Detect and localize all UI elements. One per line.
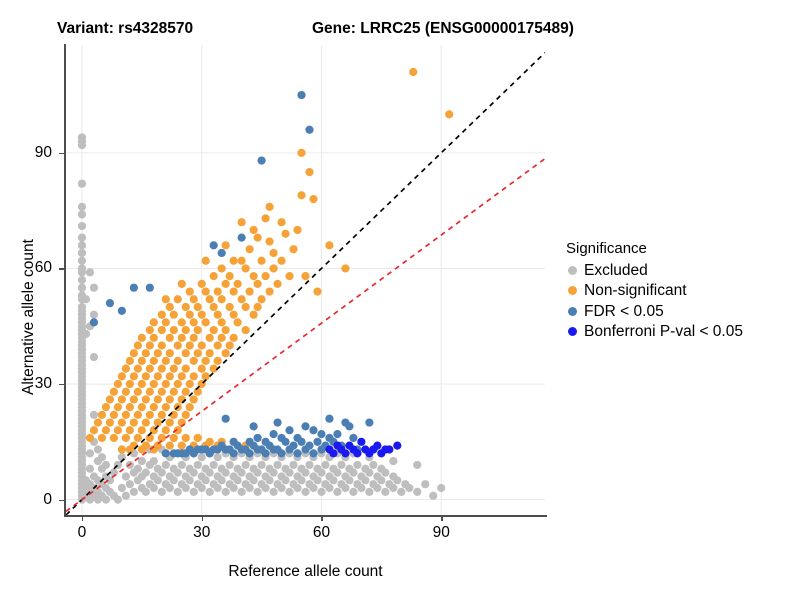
chart-root: Variant: rs4328570 Gene: LRRC25 (ENSG000… [0,0,800,600]
y-tick-label: 0 [12,491,52,509]
ratio-line [66,159,545,512]
plot-panel [66,45,545,515]
legend-item-non-significant[interactable]: Non-significant [565,281,797,302]
legend-item-label: Non-significant [584,283,687,299]
gene-title: Gene: LRRC25 (ENSG00000175489) [312,20,574,38]
y-tick-label: 90 [12,144,52,162]
legend-swatch-icon [568,327,577,336]
legend-title: Significance [566,240,797,257]
x-tick-label: 90 [411,524,471,542]
legend-item-label: Bonferroni P-val < 0.05 [584,324,743,340]
x-axis-label: Reference allele count [0,563,611,581]
y-tick-mark [59,268,64,269]
x-tick-label: 0 [52,524,112,542]
x-tick-mark [202,516,203,521]
x-axis-line [64,515,547,517]
legend-items: ExcludedNon-significantFDR < 0.05Bonferr… [565,260,797,342]
x-tick-label: 30 [172,524,232,542]
legend-item-label: FDR < 0.05 [584,304,664,320]
legend-item-excluded[interactable]: Excluded [565,260,797,281]
x-tick-mark [82,516,83,521]
y-tick-mark [59,153,64,154]
variant-title: Variant: rs4328570 [57,20,193,38]
scatter-plot-svg [66,45,545,515]
legend-item-bonferroni-p-val-0-05[interactable]: Bonferroni P-val < 0.05 [565,322,797,343]
legend-swatch-icon [568,307,577,316]
x-tick-mark [441,516,442,521]
x-tick-label: 60 [291,524,351,542]
y-tick-mark [59,384,64,385]
y-axis-label: Alternative allele count [20,239,38,395]
legend: Significance ExcludedNon-significantFDR … [565,240,797,342]
legend-swatch-icon [568,286,577,295]
series-non-significant [86,68,453,454]
legend-item-fdr-0-05[interactable]: FDR < 0.05 [565,301,797,322]
legend-swatch-icon [568,266,577,275]
y-axis-line [64,44,66,516]
y-tick-mark [59,500,64,501]
x-tick-mark [321,516,322,521]
legend-item-label: Excluded [584,263,648,279]
